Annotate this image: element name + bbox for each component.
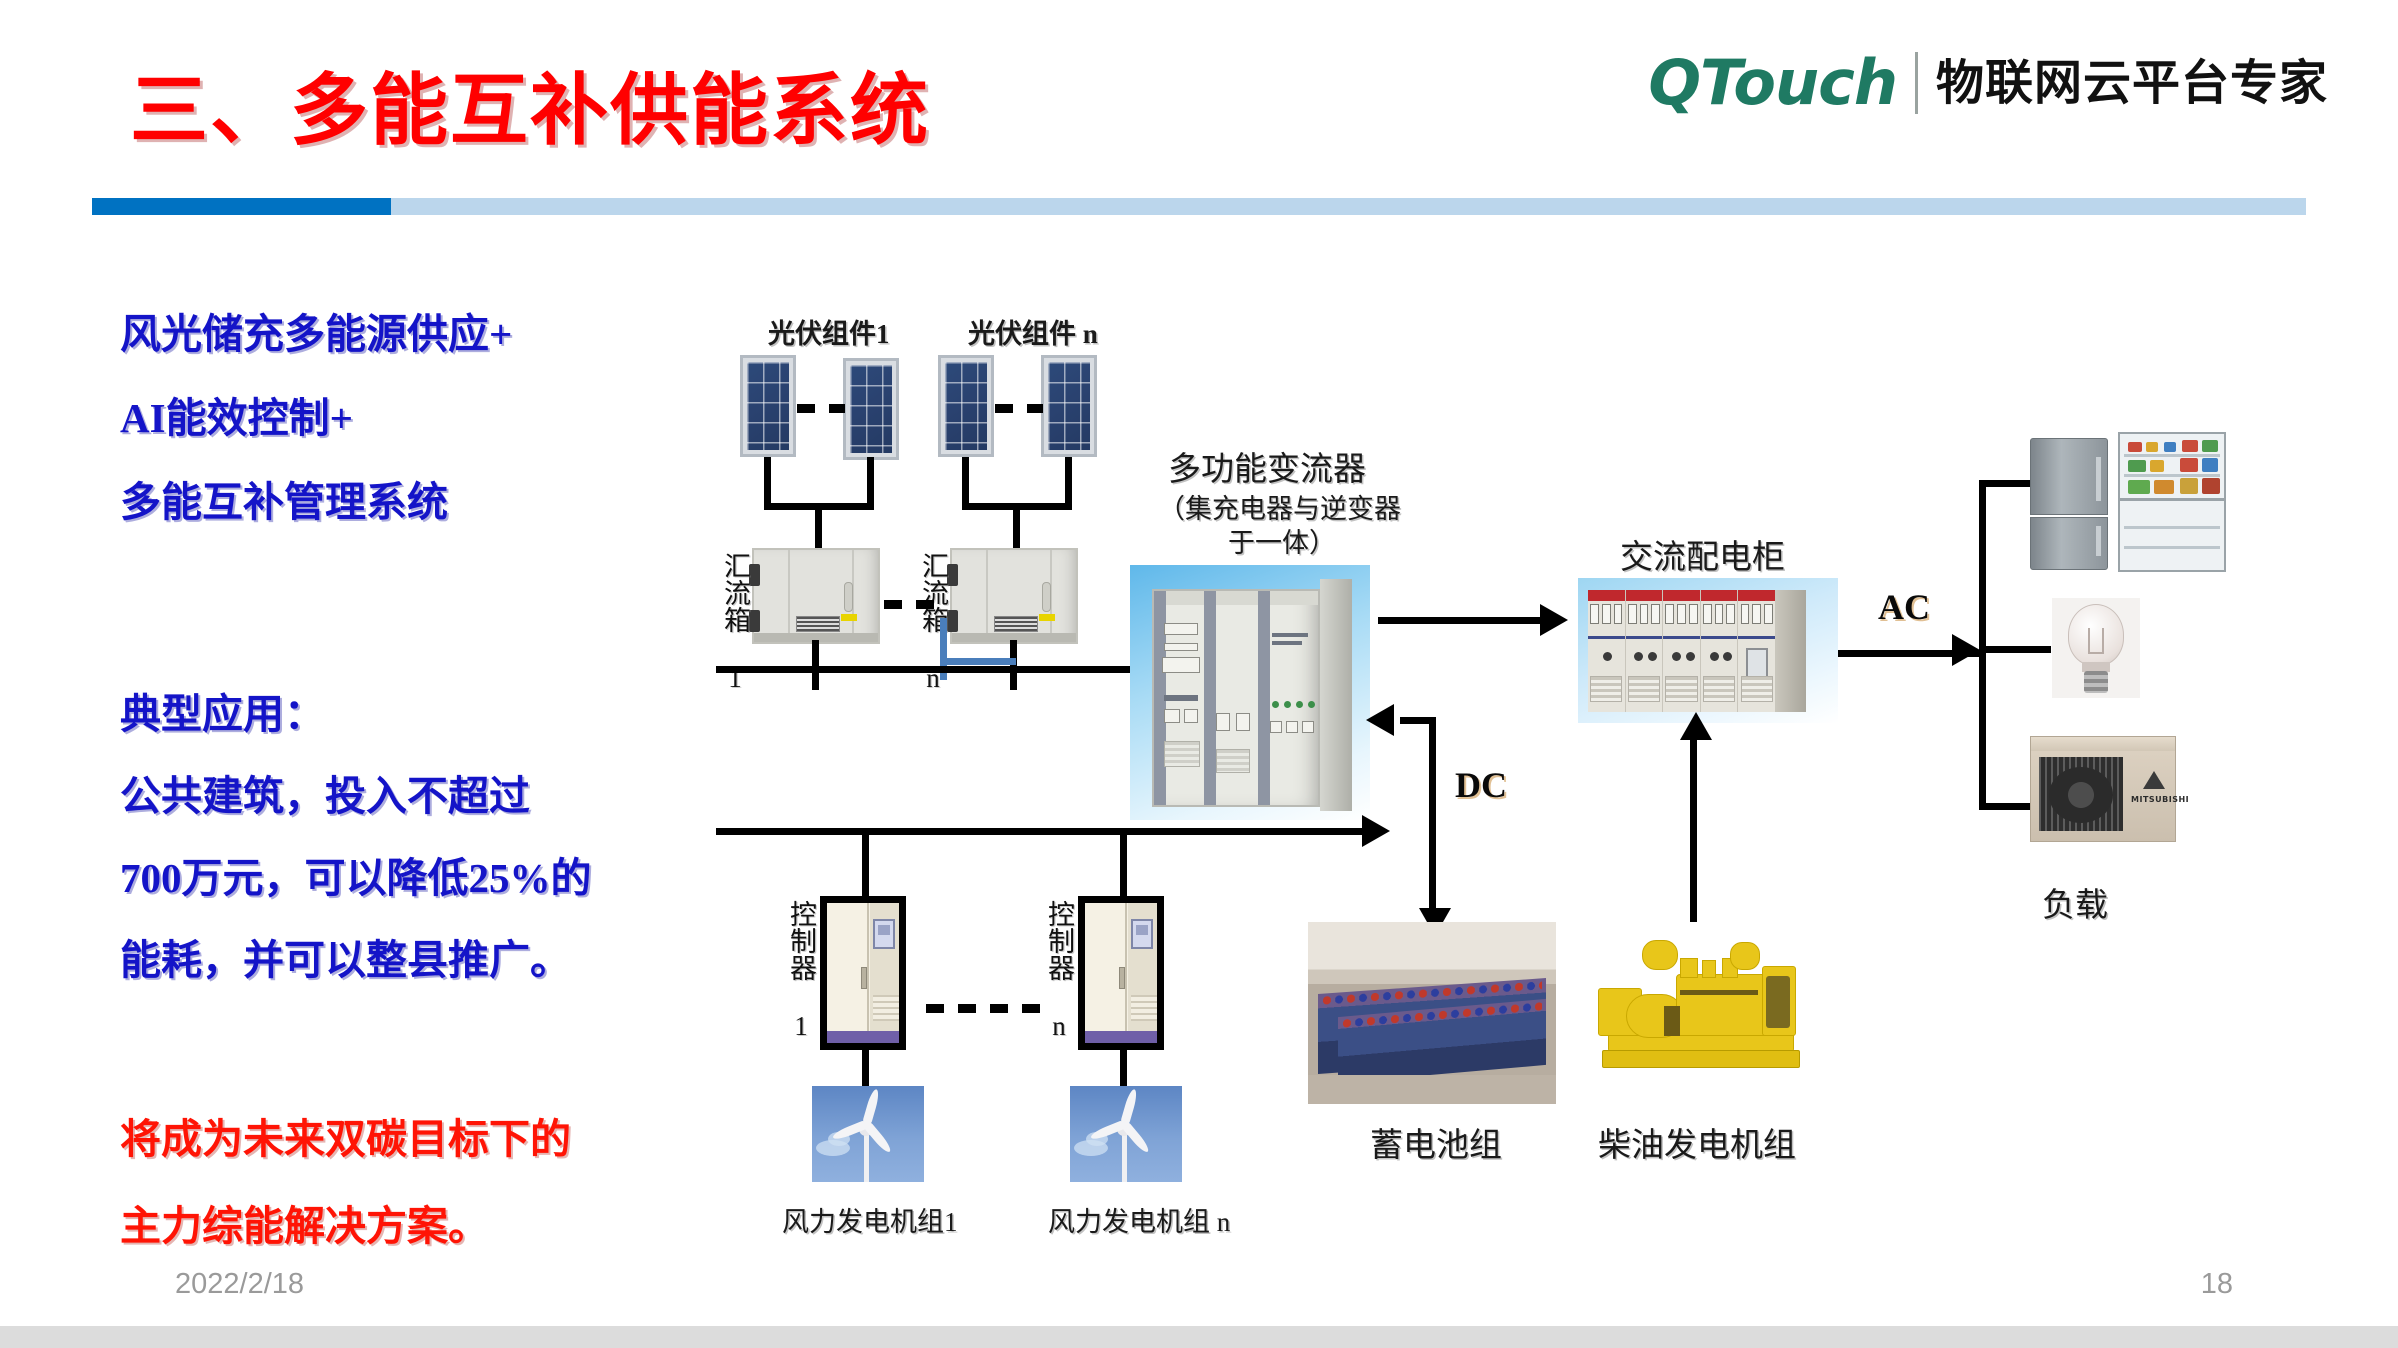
wire-generator-to-ac [1690,726,1697,922]
wire-pv1-down [764,457,771,509]
left-text-line-4: 典型应用： [120,680,325,740]
wire-blue-horizontal [940,658,1016,665]
wire-combiner1-down [812,640,819,690]
wire-bus-to-controller-n [1120,828,1127,900]
left-text-line-5: 公共建筑，投入不超过 [120,762,530,822]
wire-pvn1-down [962,457,969,509]
wire-pv-to-combiner-n [1013,503,1020,551]
caption-load: 负载 [2042,878,2108,926]
brand-logo: QTouch 物联网云平台专家 [1648,52,2328,114]
wire-combinern-down [1010,640,1017,690]
logo-divider [1915,52,1918,114]
pv-dc-bus [716,666,1154,673]
logo-wordmark: QTouch [1648,52,1897,114]
combiner-box-1 [752,548,880,644]
left-text-line-2: AI能效控制+ [120,384,353,444]
refrigerator-open-icon [2118,432,2226,572]
wind-dc-bus [716,828,1368,835]
left-text-line-8: 将成为未来双碳目标下的 [120,1105,571,1165]
solar-panel-icon [843,358,899,460]
caption-wind-n: 风力发电机组 n [1048,1200,1230,1239]
ac-cabinet-column [1626,590,1664,712]
wire-dc-riser [1429,717,1436,917]
wire-load-riser [1979,480,1986,810]
refrigerator-icon [2030,438,2108,570]
pv-link-dashed-n [995,404,1043,413]
slide-canvas: 三、多能互补供能系统 QTouch 物联网云平台专家 风光储充多能源供应+ AI… [0,0,2398,1348]
arrow-converter-to-ac [1540,604,1568,636]
left-text-line-1: 风光储充多能源供应+ [120,300,512,360]
footer-bar [0,1326,2398,1348]
left-text-line-9: 主力综能解决方案。 [120,1192,489,1252]
label-ac: AC [1878,586,1930,628]
ac-distribution-cabinet-image [1578,578,1838,723]
controller-link-dashed [926,1004,1044,1013]
caption-controller-n: 控制器 n [1040,900,1079,1041]
ac-cabinet-column [1701,590,1739,712]
left-text-line-7: 能耗，并可以整县推广。 [120,926,571,986]
controller-1-image [820,896,906,1050]
ac-cabinet-column [1588,590,1626,712]
header-divider [92,198,2306,215]
arrow-ac-to-loads [1952,634,1980,666]
divider-dark-segment [92,198,391,215]
wire-pv-to-combiner-1 [815,503,822,551]
footer-date: 2022/2/18 [175,1268,304,1301]
battery-bank-image [1308,922,1556,1104]
converter-image [1130,565,1370,820]
caption-generator: 柴油发电机组 [1598,1118,1796,1166]
caption-wind-1: 风力发电机组1 [782,1200,958,1239]
caption-controller-1: 控制器 1 [782,900,821,1041]
arrow-generator-to-ac [1680,712,1712,740]
caption-ac-cabinet: 交流配电柜 [1620,530,1785,578]
wire-pv2-down [867,457,874,509]
footer-page-number: 18 [2201,1268,2233,1301]
wire-converter-to-ac [1378,617,1546,624]
wire-to-bulb [1979,646,2051,653]
divider-light-segment [391,198,2306,215]
pv-link-dashed-1 [797,404,845,413]
air-conditioner-icon: MITSUBISHI [2030,736,2176,842]
wire-pvn2-down [1065,457,1072,509]
combiner-box-n [950,548,1078,644]
wind-turbine-n-image [1070,1086,1182,1182]
caption-pv-module-n: 光伏组件 n [968,312,1098,351]
left-text-line-3: 多能互补管理系统 [120,468,448,528]
controller-n-image [1078,896,1164,1050]
light-bulb-icon [2052,598,2140,698]
page-title: 三、多能互补供能系统 [130,48,930,160]
arrow-wind-to-dc [1362,815,1390,847]
ac-cabinet-column [1663,590,1701,712]
solar-panel-icon [1041,355,1097,457]
caption-converter-sub-2: 于一体） [1228,521,1336,560]
label-dc: DC [1455,764,1507,806]
wire-bus-to-controller-1 [862,828,869,900]
caption-battery: 蓄电池组 [1370,1118,1502,1166]
diesel-generator-image [1580,932,1808,1082]
ac-cabinet-column [1738,590,1776,712]
caption-converter-title: 多功能变流器 [1168,442,1366,490]
solar-panel-icon [938,355,994,457]
aircon-brand-label: MITSUBISHI [2131,795,2189,804]
left-text-line-6: 700万元，可以降低25%的 [120,844,592,904]
caption-pv-module-1: 光伏组件1 [768,312,890,351]
solar-panel-icon [740,355,796,457]
logo-tagline: 物联网云平台专家 [1936,59,2328,107]
wind-turbine-1-image [812,1086,924,1182]
arrow-dc-into-converter [1366,704,1394,736]
combiner-link-dashed [884,600,946,609]
